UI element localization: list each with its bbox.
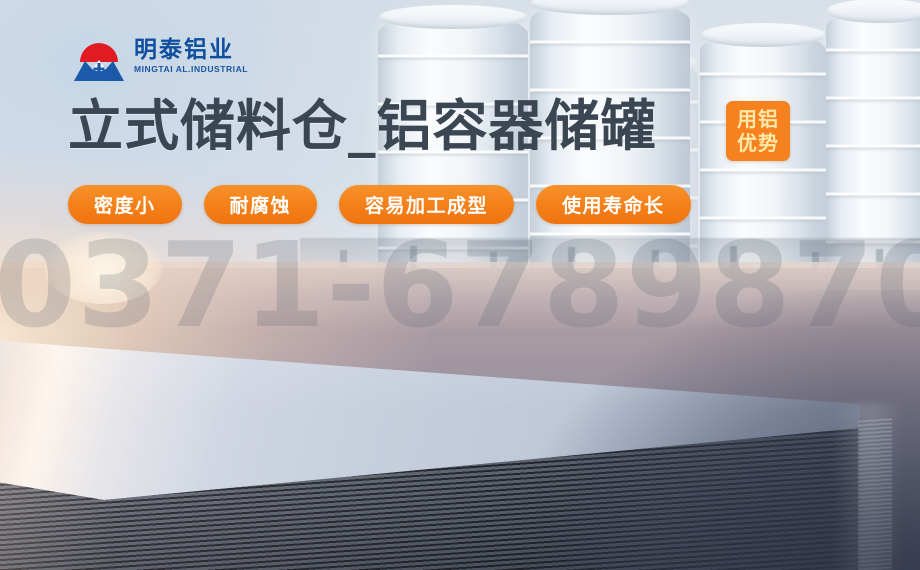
brand-logo[interactable]: 明泰铝业 MINGTAI AL.INDUSTRIAL [70,37,270,85]
badge-line-2: 优势 [737,131,779,155]
vignette-corner [520,290,920,570]
feature-pill[interactable]: 耐腐蚀 [204,185,318,224]
product-hero-banner: 0371-67898708 明泰铝业 MINGTAI AL.INDUSTRIAL… [0,0,920,570]
brand-name-en: MINGTAI AL.INDUSTRIAL [134,64,248,75]
feature-pill-list: 密度小 耐腐蚀 容易加工成型 使用寿命长 [68,185,691,224]
status-badge: 用铝 优势 [726,101,790,161]
feature-pill[interactable]: 容易加工成型 [339,185,514,224]
badge-line-1: 用铝 [737,107,779,131]
page-title: 立式储料仓_铝容器储罐 [68,96,657,156]
feature-pill[interactable]: 密度小 [68,185,182,224]
brand-logo-text: 明泰铝业 MINGTAI AL.INDUSTRIAL [134,37,248,75]
feature-pill[interactable]: 使用寿命长 [536,185,691,224]
mingtai-sun-mountain-logo-icon [70,39,128,83]
brand-name-cn: 明泰铝业 [134,37,248,63]
